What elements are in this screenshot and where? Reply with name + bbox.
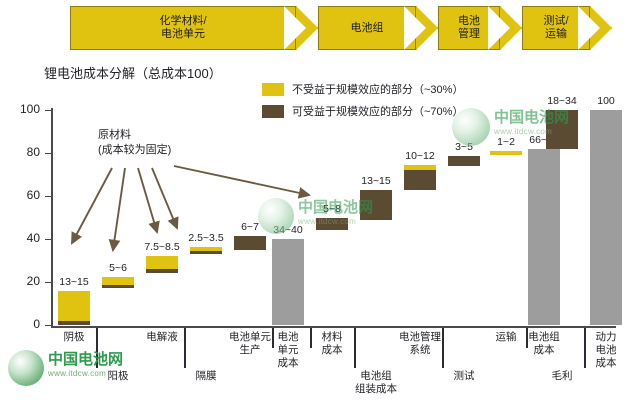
bar-segment-not-scalable [102,277,134,286]
x-separator-0 [96,328,98,368]
y-tick-label-40: 40 [6,231,40,245]
x-separator-6 [526,328,528,348]
bar-segment-scalable [58,321,90,325]
bar-电池组组装成本[interactable] [360,190,392,220]
banner-step-0[interactable]: 化学材料/ 电池单元 [70,6,296,50]
chart-title: 锂电池成本分解（总成本100） [44,63,222,82]
x-separator-4 [354,328,356,368]
bar-segment-scalable [234,236,266,250]
bar-segment-scalable [404,170,436,189]
bar-segment-scalable [360,190,392,220]
bar-阴极[interactable] [58,291,90,325]
bar-value-label-电池组组装成本: 13~15 [346,175,406,187]
legend-item-not-scalable: 不受益于规模效应的部分（~30%） [262,80,463,98]
bar-电解液[interactable] [146,256,178,273]
x-separator-2 [272,328,274,348]
bar-segment-total [590,110,622,325]
x-separator-1 [184,328,186,368]
x-label-电池单元成本: 电池 单元 成本 [271,331,305,370]
banner-step-label-1: 电池组 [351,22,384,35]
annotation-line-2: (成本较为固定) [98,143,171,158]
x-label-毛利: 毛利 [542,370,582,383]
bar-value-label-材料成本: 5~8 [302,203,362,215]
banner-step-label-3: 测试/ 运输 [543,15,568,40]
bar-测试[interactable] [448,156,480,166]
x-label-电解液: 电解液 [134,331,190,344]
x-label-材料成本: 材料 成本 [315,331,349,357]
y-tick-60 [45,196,52,197]
bar-隔膜[interactable] [190,247,222,255]
banner-step-label-0: 化学材料/ 电池单元 [159,15,206,40]
raw-material-annotation: 原材料 (成本较为固定) [98,128,171,158]
annotation-line-1: 原材料 [98,128,171,143]
y-tick-40 [45,239,52,240]
banner-step-1[interactable]: 电池组 [318,6,416,50]
bar-segment-not-scalable [146,256,178,269]
bar-segment-scalable [546,110,578,149]
x-separator-5 [442,328,444,368]
y-tick-label-100: 100 [6,102,40,116]
y-tick-label-0: 0 [6,317,40,331]
x-axis-line [51,326,616,328]
x-label-阳极: 阳极 [97,370,139,383]
x-separator-7 [584,328,586,368]
y-tick-label-80: 80 [6,145,40,159]
bar-电池管理系统[interactable] [404,165,436,190]
bar-value-label-阴极: 13~15 [44,276,104,288]
bar-运输[interactable] [490,151,522,155]
bar-segment-not-scalable [58,291,90,321]
bar-value-label-隔膜: 2.5~3.5 [176,232,236,244]
x-label-阴极: 阴极 [49,331,99,344]
bar-电池单元成本[interactable] [272,239,304,325]
bar-材料成本[interactable] [316,218,348,231]
x-label-测试: 测试 [444,370,484,383]
watermark-name: 中国电池网 [48,352,123,367]
bar-segment-scalable [146,269,178,273]
bar-segment-scalable [316,218,348,231]
x-label-隔膜: 隔膜 [185,370,227,383]
bar-segment-scalable [448,156,480,166]
watermark-logo-icon [8,350,44,386]
legend-label-not-scalable: 不受益于规模效应的部分（~30%） [292,81,463,97]
bar-电池单元生产[interactable] [234,236,266,250]
bar-value-label-动力电池成本: 100 [576,95,635,107]
x-separator-3 [310,328,312,348]
bar-segment-total [528,149,560,325]
bar-电池组成本[interactable] [528,149,560,325]
y-tick-80 [45,153,52,154]
bar-segment-scalable [190,251,222,254]
waterfall-chart-page: 化学材料/ 电池单元电池组电池 管理测试/ 运输 锂电池成本分解（总成本100）… [0,0,635,403]
bar-value-label-阳极: 5~6 [88,262,148,274]
bar-毛利[interactable] [546,110,578,149]
bar-segment-total [272,239,304,325]
y-tick-label-20: 20 [6,274,40,288]
x-label-电池管理系统: 电池管理 系统 [390,331,450,357]
y-tick-label-60: 60 [6,188,40,202]
legend-swatch-yellow [262,83,284,96]
bar-阳极[interactable] [102,277,134,289]
y-tick-0 [45,325,52,326]
bar-动力电池成本[interactable] [590,110,622,325]
bar-segment-scalable [102,285,134,288]
x-label-电池组组装成本: 电池组 组装成本 [345,370,407,396]
x-label-动力电池成本: 动力 电池 成本 [588,331,624,370]
banner-step-label-2: 电池 管理 [458,15,480,40]
y-tick-100 [45,110,52,111]
bar-segment-not-scalable [490,151,522,155]
bar-value-label-电池单元成本: 34~40 [258,224,318,236]
